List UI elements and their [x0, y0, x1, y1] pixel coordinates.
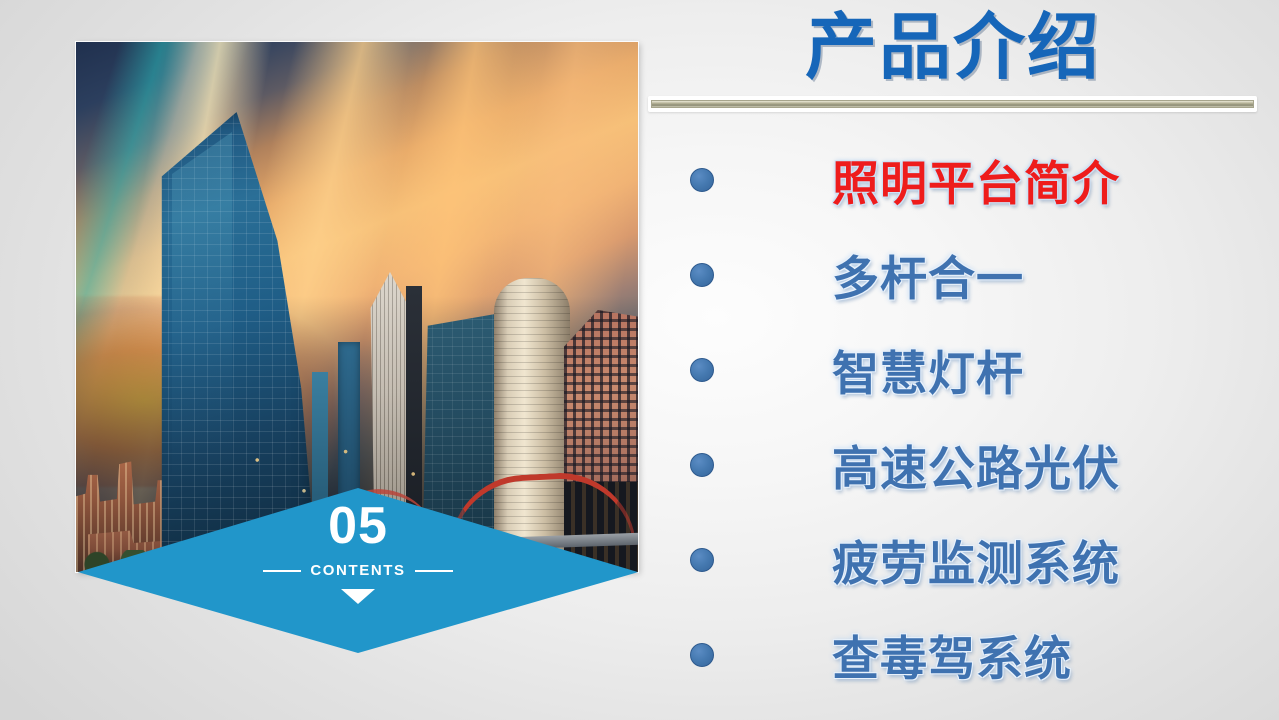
bullet-dot-icon	[690, 643, 714, 667]
bullet-dot-icon	[690, 358, 714, 382]
bullet-dot-icon	[690, 168, 714, 192]
bullet-dot-icon	[690, 453, 714, 477]
list-item-label: 多杆合一	[734, 240, 1024, 309]
list-item-label: 照明平台简介	[734, 145, 1120, 214]
list-item[interactable]: 智慧灯杆	[690, 322, 1270, 417]
list-item[interactable]: 高速公路光伏	[690, 417, 1270, 512]
title-divider	[648, 96, 1257, 112]
agenda-list: 照明平台简介 多杆合一 智慧灯杆 高速公路光伏 疲劳监测系统 查毒驾系统	[690, 132, 1270, 702]
list-item[interactable]: 多杆合一	[690, 227, 1270, 322]
list-item-label: 查毒驾系统	[734, 620, 1072, 689]
bullet-dot-icon	[690, 263, 714, 287]
page-title: 产品介绍	[648, 6, 1258, 89]
list-item[interactable]: 疲劳监测系统	[690, 512, 1270, 607]
bullet-dot-icon	[690, 548, 714, 572]
list-item[interactable]: 查毒驾系统	[690, 607, 1270, 702]
divider-bar	[651, 100, 1254, 108]
list-item-label: 疲劳监测系统	[734, 525, 1120, 594]
list-item-label: 高速公路光伏	[734, 430, 1120, 499]
presentation-slide: 05 CONTENTS 产品介绍 照明平台简介 多杆合一 智慧灯杆 高速公路光伏	[0, 0, 1279, 720]
curved-glass-tower-highlight	[172, 132, 232, 552]
list-item[interactable]: 照明平台简介	[690, 132, 1270, 227]
list-item-label: 智慧灯杆	[734, 335, 1024, 404]
